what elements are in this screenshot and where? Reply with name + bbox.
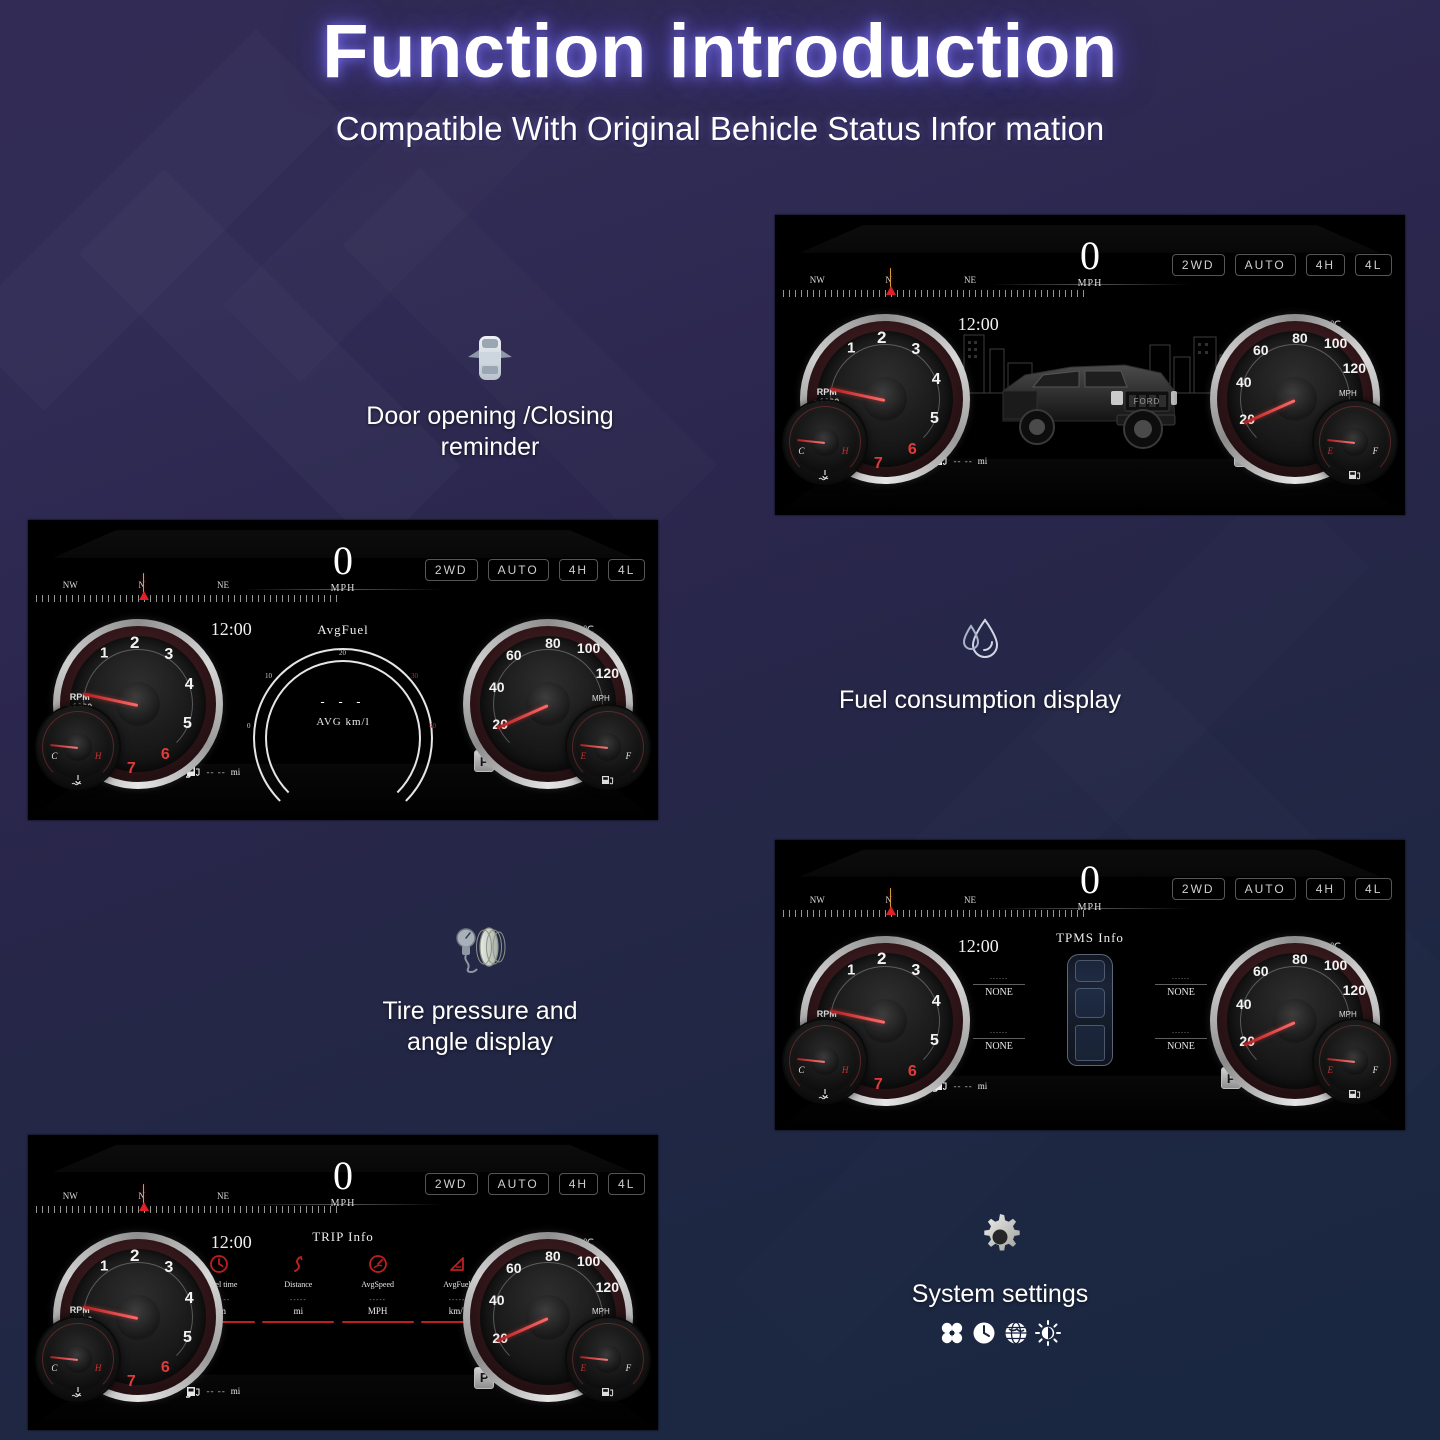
speedo-label-40: 40	[1236, 996, 1252, 1012]
speedo-label-80: 80	[545, 1248, 561, 1264]
tach-label-4: 4	[185, 676, 194, 694]
drive-mode-4h[interactable]: 4H	[1306, 878, 1345, 900]
cluster-panel-avgfuel: NW N NE 0 MPH 2WD AUTO 4H 4L 12:00 --.-℃…	[28, 520, 658, 820]
tach-label-7: 7	[874, 1076, 883, 1094]
drive-mode-auto[interactable]: AUTO	[1235, 254, 1296, 276]
avgfuel-title: AvgFuel	[223, 622, 463, 638]
coolant-low-label: C	[51, 1363, 57, 1373]
trip-info-panel: TRIP Info Travel time -- : -- h:m Distan	[183, 1229, 503, 1323]
tpms-front-right: ------ NONE	[1149, 976, 1213, 998]
coolant-temp-gauge: C H	[37, 706, 119, 788]
tach-label-6: 6	[908, 1063, 917, 1081]
tpms-front-right-value: NONE	[1149, 987, 1213, 998]
coolant-temp-icon	[71, 774, 85, 786]
tach-label-1: 1	[100, 1258, 108, 1275]
speedo-label-60: 60	[506, 647, 522, 663]
drive-mode-buttons[interactable]: 2WD AUTO 4H 4L	[425, 559, 646, 581]
range-unit: mi	[231, 1386, 241, 1396]
tach-label-7: 7	[127, 1373, 136, 1391]
tach-label-2: 2	[877, 949, 886, 969]
tach-label-6: 6	[161, 746, 170, 764]
speedo-label-100: 100	[1324, 957, 1347, 973]
avgfuel-info-panel: AvgFuel 0 10 20 30 40 - - - AVG km/l	[223, 622, 463, 748]
cluster-panel-vehicle: NW N NE 0 MPH 2WD AUTO 4H 4L 12:00 --.-℃	[775, 215, 1405, 515]
drive-mode-buttons[interactable]: 2WD AUTO 4H 4L	[1172, 254, 1393, 276]
avgfuel-value: - - -	[320, 694, 365, 709]
speedo-label-120: 120	[1343, 982, 1366, 998]
tpms-front-left: ------ NONE	[967, 976, 1031, 998]
page-title: Function introduction	[0, 12, 1440, 92]
speedo-label-100: 100	[1324, 335, 1347, 351]
avgfuel-arc: 0 10 20 30 40 - - - AVG km/l	[253, 648, 433, 748]
clock-icon	[971, 1320, 997, 1346]
feature-settings-label-line1: System settings	[855, 1279, 1145, 1310]
fuel-low-label: E	[1328, 1065, 1334, 1075]
drive-mode-4h[interactable]: 4H	[1306, 254, 1345, 276]
drive-mode-4l[interactable]: 4L	[1355, 254, 1392, 276]
range-value: -- --	[207, 1386, 226, 1396]
range-value: -- --	[954, 1081, 973, 1091]
fuel-level-gauge: E F	[1314, 1020, 1396, 1102]
tach-label-1: 1	[847, 961, 855, 978]
drive-mode-auto[interactable]: AUTO	[488, 559, 549, 581]
tpms-rear-right-value: NONE	[1149, 1041, 1213, 1052]
fuel-pump-icon	[186, 1385, 202, 1398]
fuel-level-gauge: E F	[567, 706, 649, 788]
range-value: -- --	[207, 767, 226, 777]
tire-pressure-gauge-icon	[350, 925, 610, 986]
fuel-level-gauge: E F	[1314, 401, 1396, 483]
cluster-panel-tpms: NW N NE 0 MPH 2WD AUTO 4H 4L 12:00 --.-℃…	[775, 840, 1405, 1130]
avgfuel-scale-0: 0	[247, 722, 251, 730]
tpms-rear-left-value: NONE	[967, 1041, 1031, 1052]
vehicle-graphic: FORD	[975, 335, 1205, 465]
drive-mode-4l[interactable]: 4L	[608, 559, 645, 581]
svg-text:FORD: FORD	[1134, 397, 1161, 406]
speedo-label-80: 80	[1292, 330, 1308, 346]
coolant-high-label: H	[95, 1363, 102, 1373]
coolant-temp-gauge: C H	[784, 401, 866, 483]
avgfuel-scale-30: 30	[411, 672, 418, 680]
speedo-label-80: 80	[1292, 951, 1308, 967]
trip-item-avg-speed: AvgSpeed ----- MPH	[342, 1253, 414, 1323]
drive-mode-4h[interactable]: 4H	[559, 1173, 598, 1195]
tach-label-7: 7	[127, 760, 136, 778]
feature-fuel-consumption: Fuel consumption display	[830, 612, 1130, 716]
coolant-high-label: H	[842, 1065, 849, 1075]
tach-label-6: 6	[161, 1359, 170, 1377]
tach-label-5: 5	[930, 410, 939, 428]
coolant-temp-gauge: C H	[784, 1020, 866, 1102]
speedo-label-40: 40	[489, 1292, 505, 1308]
speedo-label-80: 80	[545, 635, 561, 651]
coolant-temp-icon	[818, 469, 832, 481]
range-unit: mi	[978, 456, 988, 466]
avgfuel-scale-20: 20	[339, 649, 346, 657]
speedo-unit-label: MPH	[592, 1307, 610, 1316]
range-to-empty: -- -- mi	[186, 1385, 241, 1398]
feature-tire-pressure: Tire pressure and angle display	[350, 925, 610, 1059]
feature-system-settings: System settings	[855, 1210, 1145, 1346]
speedo-label-40: 40	[1236, 374, 1252, 390]
tpms-rear-left: ------ NONE	[967, 1030, 1031, 1052]
tach-label-5: 5	[183, 1329, 192, 1347]
coolant-low-label: C	[798, 446, 804, 456]
avgfuel-unit: AVG km/l	[316, 716, 369, 728]
trip-title: TRIP Info	[183, 1229, 503, 1245]
fuel-high-label: F	[1373, 1065, 1379, 1075]
tach-label-2: 2	[130, 633, 139, 653]
avgfuel-scale-40: 40	[429, 722, 436, 730]
tach-label-3: 3	[911, 962, 920, 980]
fuel-high-label: F	[626, 751, 632, 761]
tach-label-6: 6	[908, 441, 917, 459]
fuel-pump-icon	[601, 774, 615, 786]
fuel-level-gauge: E F	[567, 1318, 649, 1400]
fuel-pump-icon	[1348, 469, 1362, 481]
tach-label-3: 3	[164, 646, 173, 664]
coolant-high-label: H	[842, 446, 849, 456]
tpms-rear-right: ------ NONE	[1149, 1030, 1213, 1052]
speedo-label-60: 60	[1253, 342, 1269, 358]
drive-mode-buttons[interactable]: 2WD AUTO 4H 4L	[425, 1173, 646, 1195]
tach-label-5: 5	[183, 715, 192, 733]
speedo-label-40: 40	[489, 679, 505, 695]
tach-label-3: 3	[164, 1259, 173, 1277]
speedo-label-100: 100	[577, 1253, 600, 1269]
gear-icon	[855, 1210, 1145, 1269]
coolant-high-label: H	[95, 751, 102, 761]
trip-item-distance: Distance ----- mi	[262, 1253, 334, 1323]
cluster-panel-trip: NW N NE 0 MPH 2WD AUTO 4H 4L 12:00 --.-℃…	[28, 1135, 658, 1430]
settings-sub-icons	[855, 1320, 1145, 1346]
tach-label-4: 4	[932, 993, 941, 1011]
speedo-label-60: 60	[1253, 963, 1269, 979]
tach-label-5: 5	[930, 1032, 939, 1050]
tpms-title: TPMS Info	[965, 930, 1215, 946]
fuel-low-label: E	[581, 1363, 587, 1373]
road-icon	[262, 1253, 334, 1275]
fuel-high-label: F	[626, 1363, 632, 1373]
fuel-pump-icon	[601, 1386, 615, 1398]
coolant-temp-icon	[818, 1088, 832, 1100]
fuel-low-label: E	[1328, 446, 1334, 456]
drive-mode-4l[interactable]: 4L	[1355, 878, 1392, 900]
fan-icon	[939, 1320, 965, 1346]
speedo-unit-label: MPH	[592, 694, 610, 703]
drive-mode-2wd[interactable]: 2WD	[1172, 878, 1225, 900]
tpms-front-left-value: NONE	[967, 987, 1031, 998]
feature-door-label-line1: Door opening /Closing	[360, 401, 620, 432]
speedo-label-120: 120	[1343, 360, 1366, 376]
feature-door-label-line2: reminder	[360, 432, 620, 463]
avgfuel-scale-10: 10	[265, 672, 272, 680]
tach-label-7: 7	[874, 455, 883, 473]
range-unit: mi	[978, 1081, 988, 1091]
tach-label-4: 4	[932, 371, 941, 389]
feature-door-opening: Door opening /Closing reminder	[360, 330, 620, 464]
drive-mode-2wd[interactable]: 2WD	[1172, 254, 1225, 276]
drive-mode-2wd[interactable]: 2WD	[425, 559, 478, 581]
tpms-info-panel: TPMS Info ------ NONE ------ NONE ------…	[965, 930, 1215, 1074]
feature-tire-label-line2: angle display	[350, 1027, 610, 1058]
fuel-low-label: E	[581, 751, 587, 761]
brightness-icon	[1035, 1320, 1061, 1346]
tach-label-1: 1	[100, 645, 108, 662]
speedo-label-100: 100	[577, 640, 600, 656]
speed-icon	[342, 1253, 414, 1275]
tach-label-3: 3	[911, 341, 920, 359]
range-unit: mi	[231, 767, 241, 777]
coolant-temp-icon	[71, 1386, 85, 1398]
water-drops-icon	[830, 612, 1130, 675]
speedo-unit-label: MPH	[1339, 1010, 1357, 1019]
range-value: -- --	[954, 456, 973, 466]
vehicle-top-view	[1067, 954, 1113, 1066]
speedo-label-60: 60	[506, 1260, 522, 1276]
page-header: Function introduction Compatible With Or…	[0, 0, 1440, 148]
drive-mode-4h[interactable]: 4H	[559, 559, 598, 581]
drive-mode-2wd[interactable]: 2WD	[425, 1173, 478, 1195]
speedo-label-120: 120	[596, 665, 619, 681]
tach-label-2: 2	[877, 328, 886, 348]
fuel-high-label: F	[1373, 446, 1379, 456]
coolant-temp-gauge: C H	[37, 1318, 119, 1400]
drive-mode-auto[interactable]: AUTO	[1235, 878, 1296, 900]
globe-icon	[1003, 1320, 1029, 1346]
tach-label-2: 2	[130, 1246, 139, 1266]
coolant-low-label: C	[798, 1065, 804, 1075]
drive-mode-auto[interactable]: AUTO	[488, 1173, 549, 1195]
feature-fuel-label-line1: Fuel consumption display	[830, 685, 1130, 716]
tach-label-1: 1	[847, 340, 855, 357]
coolant-low-label: C	[51, 751, 57, 761]
car-top-doors-open-icon	[360, 330, 620, 391]
drive-mode-buttons[interactable]: 2WD AUTO 4H 4L	[1172, 878, 1393, 900]
tach-label-4: 4	[185, 1290, 194, 1308]
page-subtitle: Compatible With Original Behicle Status …	[0, 110, 1440, 148]
feature-tire-label-line1: Tire pressure and	[350, 996, 610, 1027]
drive-mode-4l[interactable]: 4L	[608, 1173, 645, 1195]
fuel-pump-icon	[1348, 1088, 1362, 1100]
speedo-unit-label: MPH	[1339, 389, 1357, 398]
speedo-label-120: 120	[596, 1279, 619, 1295]
